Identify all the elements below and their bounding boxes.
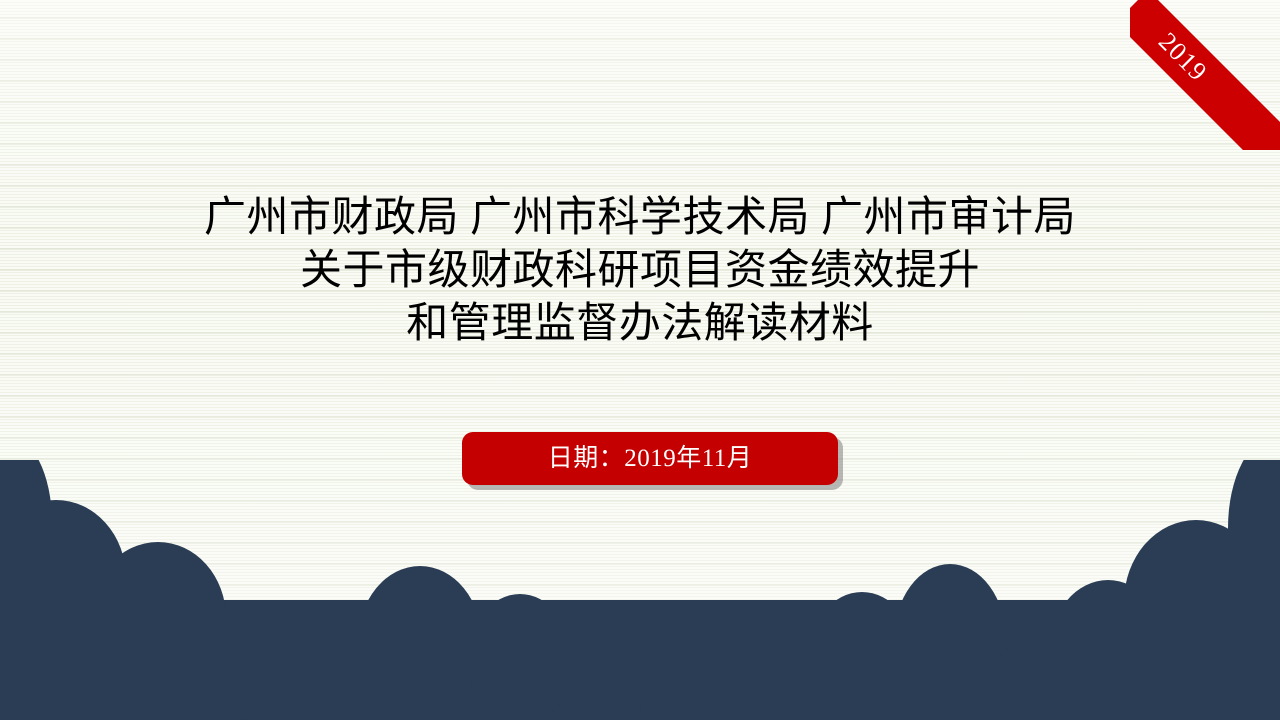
date-badge-label: 日期：2019年11月 <box>548 446 753 471</box>
presentation-title-slide: 2019 广州市财政局 广州市科学技术局 广州市审计局 关于市级财政科研项目资金… <box>0 0 1280 720</box>
title-line-2: 关于市级财政科研项目资金绩效提升 <box>0 245 1280 298</box>
cloud-shape-group <box>0 460 1280 720</box>
cloud-bump <box>468 594 572 720</box>
page-title: 广州市财政局 广州市科学技术局 广州市审计局 关于市级财政科研项目资金绩效提升 … <box>0 192 1280 351</box>
year-corner-ribbon: 2019 <box>1130 0 1280 150</box>
title-line-3: 和管理监督办法解读材料 <box>0 298 1280 351</box>
ribbon-year-label: 2019 <box>1154 28 1212 86</box>
title-line-1: 广州市财政局 广州市科学技术局 广州市审计局 <box>0 192 1280 245</box>
cloud-bump <box>198 600 302 720</box>
cloud-bump <box>358 566 482 718</box>
cloud-silhouette-decoration <box>0 460 1280 720</box>
date-badge: 日期：2019年11月 <box>462 432 838 485</box>
ribbon-band: 2019 <box>1130 0 1280 150</box>
date-badge-container: 日期：2019年11月 <box>462 432 838 485</box>
cloud-bump <box>894 564 1006 716</box>
